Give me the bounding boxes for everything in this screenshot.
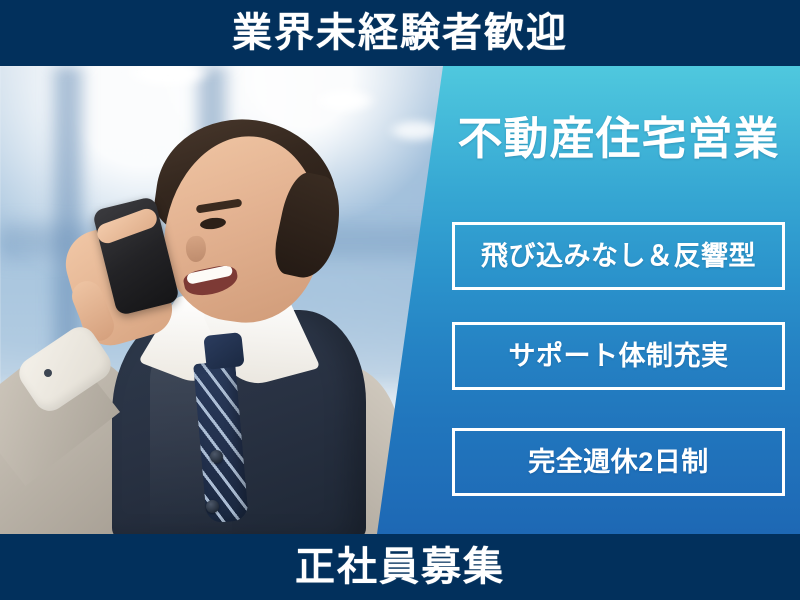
top-headline-bar: 業界未経験者歓迎 (0, 0, 800, 66)
top-headline-text: 業界未経験者歓迎 (232, 13, 568, 53)
cufflink (44, 369, 52, 377)
feature-label-1: 飛び込みなし＆反響型 (481, 243, 756, 270)
bottom-cta-bar: 正社員募集 (0, 534, 800, 600)
feature-label-2: サポート体制充実 (509, 343, 729, 370)
feature-box-2: サポート体制充実 (452, 322, 785, 390)
job-title-headline: 不動産住宅営業 (452, 116, 785, 161)
feature-box-1: 飛び込みなし＆反響型 (452, 222, 785, 290)
feature-label-3: 完全週休2日制 (528, 449, 709, 476)
bottom-cta-text: 正社員募集 (295, 547, 505, 587)
recruitment-banner: 業界未経験者歓迎 (0, 0, 800, 600)
feature-box-3: 完全週休2日制 (452, 428, 785, 496)
vest-button-lower (206, 500, 219, 513)
main-stage: 不動産住宅営業 飛び込みなし＆反響型 サポート体制充実 完全週休2日制 (0, 66, 800, 534)
vest-button-upper (210, 450, 223, 463)
necktie-knot (203, 332, 244, 370)
panel-content: 不動産住宅営業 飛び込みなし＆反響型 サポート体制充実 完全週休2日制 (452, 66, 785, 534)
